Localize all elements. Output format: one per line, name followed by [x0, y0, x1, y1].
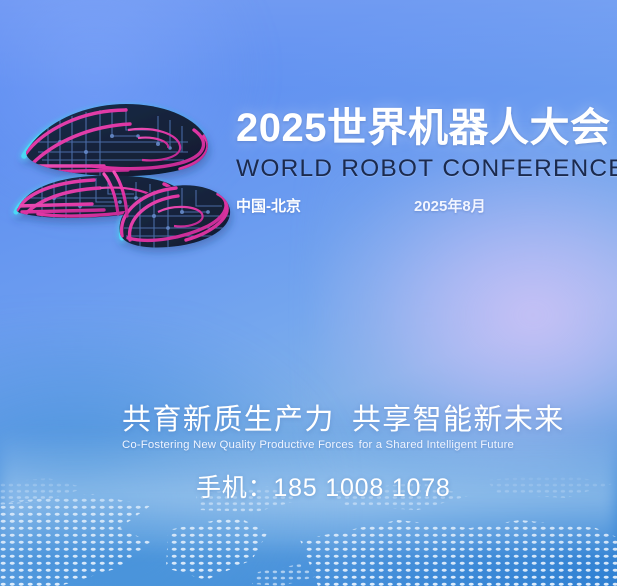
title-en-word-2: ROBOT	[341, 155, 434, 182]
slogan-cn-part-1: 共育新质生产力	[122, 404, 335, 436]
slogan-cn: 共育新质生产力共享智能新未来	[122, 404, 542, 436]
title-en-word-3: CONFERENCE	[442, 155, 617, 182]
slogan-cn-part-2: 共享智能新未来	[352, 404, 565, 436]
poster-slogan: 共育新质生产力共享智能新未来 Co-Fostering New Quality …	[122, 404, 542, 453]
page-title-cn: 2025世界机器人大会	[236, 106, 606, 151]
poster-canvas: 2025世界机器人大会 WORLDROBOTCONFERENCE 中国-北京 2…	[0, 0, 617, 586]
background-top-sheen	[0, 0, 617, 90]
page-title-en: WORLDROBOTCONFERENCE	[236, 156, 606, 183]
title-en-word-1: WORLD	[236, 155, 333, 182]
poster-header: 2025世界机器人大会 WORLDROBOTCONFERENCE 中国-北京 2…	[236, 106, 606, 216]
contact-phone: 手机：185 1008 1078	[196, 474, 451, 503]
world-robot-conference-logo	[8, 86, 240, 252]
slogan-en: Co-Fostering New Quality Productive Forc…	[122, 439, 542, 453]
event-location: 中国-北京	[236, 195, 301, 216]
event-date: 2025年8月	[414, 195, 486, 216]
slogan-en-part-2: for a Shared Intelligent Future	[359, 439, 514, 451]
slogan-en-part-1: Co-Fostering New Quality Productive Forc…	[122, 439, 354, 451]
event-meta-row: 中国-北京 2025年8月	[236, 195, 606, 216]
